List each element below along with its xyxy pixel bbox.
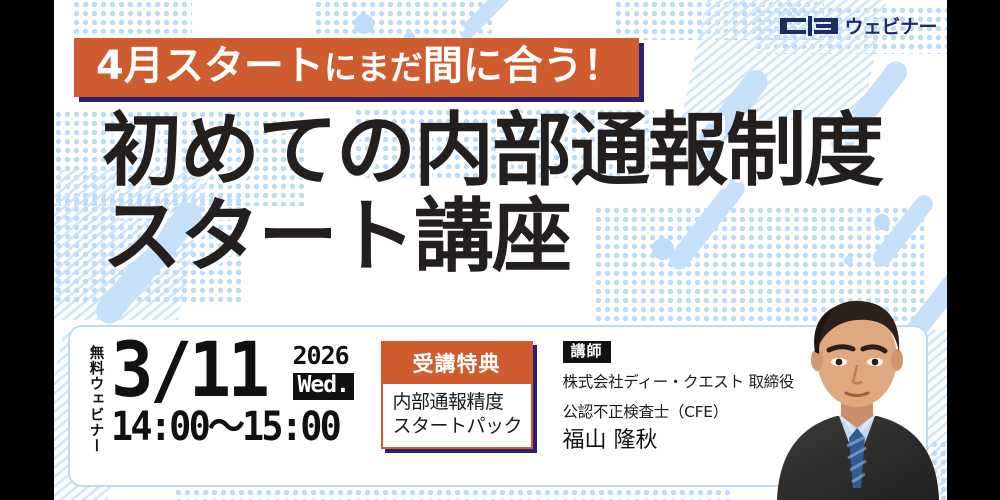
kicker-part1: 4月スタート [96,43,324,89]
kicker-part4: ！ [583,43,623,89]
date-block: 3/11 2026 Wed. 14:00〜15:00 [111,339,361,447]
letterbox-left [0,0,54,500]
logo-text: ウェビナー [844,12,937,39]
title-line-1: 初めての内部通報制度 [102,112,882,190]
title-line-2: スタート講座 [102,196,882,278]
kicker-part3: 間に合う [423,43,583,89]
free-webinar-label: 無料ウェビナー [88,345,103,469]
benefit-body-line-1: 内部通報精度 [393,391,523,415]
event-day-of-week: Wed. [293,373,354,400]
kicker-banner: 4月スタートにまだ間に合う！ [74,38,639,97]
bg-circle-1 [354,14,374,34]
kicker-text: 4月スタートにまだ間に合う！ [74,38,639,97]
letterbox-right [947,0,1000,500]
benefit-heading: 受講特典 [383,343,531,384]
event-date: 3/11 [111,339,266,401]
kicker-part2: にまだ [324,48,423,87]
dq-webinar-logo: ウェビナー [779,12,937,39]
benefit-box: 受講特典 内部通報精度 スタートパック [381,341,533,449]
benefit-body-line-2: スタートパック [393,415,523,439]
speaker-portrait [767,288,947,500]
benefit-body: 内部通報精度 スタートパック [383,384,531,447]
speaker-badge: 講師 [563,341,611,363]
webinar-banner: ウェビナー 4月スタートにまだ間に合う！ 初めての内部通報制度 スタート講座 無… [0,0,1000,500]
benefit-inner: 受講特典 内部通報精度 スタートパック [381,341,533,449]
page-title: 初めての内部通報制度 スタート講座 [102,112,882,278]
year-dow-group: 2026 Wed. [293,343,363,400]
event-time: 14:00〜15:00 [111,407,341,447]
dq-logo-mark [779,15,841,37]
banner-canvas: ウェビナー 4月スタートにまだ間に合う！ 初めての内部通報制度 スタート講座 無… [54,0,947,500]
event-year: 2026 [293,343,363,368]
